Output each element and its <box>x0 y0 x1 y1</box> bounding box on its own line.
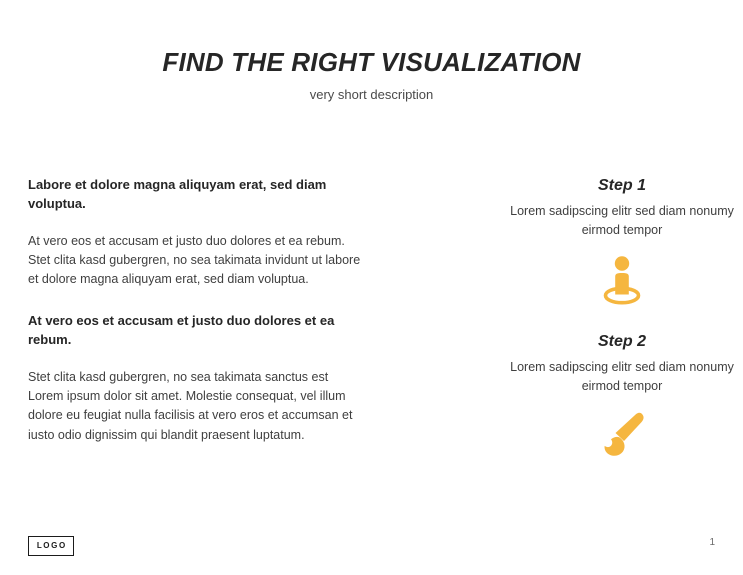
page-number: 1 <box>709 538 715 548</box>
logo: LOGO <box>28 536 74 556</box>
step-title: Step 1 <box>508 176 736 195</box>
slide-header: FIND THE RIGHT VISUALIZATION very short … <box>0 48 743 102</box>
step-description: Lorem sadipscing elitr sed diam nonumy e… <box>508 358 736 396</box>
paragraph-heading: At vero eos et accusam et justo duo dolo… <box>28 312 362 350</box>
slide-canvas: FIND THE RIGHT VISUALIZATION very short … <box>0 0 743 575</box>
paragraph-body: At vero eos et accusam et justo duo dolo… <box>28 232 362 290</box>
step-item-1: Step 1 Lorem sadipscing elitr sed diam n… <box>508 176 736 306</box>
left-text-column: Labore et dolore magna aliquyam erat, se… <box>28 176 362 445</box>
right-steps-column: Step 1 Lorem sadipscing elitr sed diam n… <box>508 176 736 461</box>
page-subtitle: very short description <box>0 87 743 103</box>
step-title: Step 2 <box>508 332 736 351</box>
step-item-2: Step 2 Lorem sadipscing elitr sed diam n… <box>508 332 736 462</box>
paragraph-heading: Labore et dolore magna aliquyam erat, se… <box>28 176 362 214</box>
step-description: Lorem sadipscing elitr sed diam nonumy e… <box>508 202 736 240</box>
page-title: FIND THE RIGHT VISUALIZATION <box>0 48 743 77</box>
logo-text: LOGO <box>35 542 67 550</box>
person-in-circle-icon <box>594 254 650 306</box>
paragraph-body: Stet clita kasd gubergren, no sea takima… <box>28 368 362 446</box>
text-block: Labore et dolore magna aliquyam erat, se… <box>28 176 362 290</box>
block-spacer <box>28 290 362 312</box>
paint-brush-icon <box>594 409 650 461</box>
text-block: At vero eos et accusam et justo duo dolo… <box>28 312 362 445</box>
